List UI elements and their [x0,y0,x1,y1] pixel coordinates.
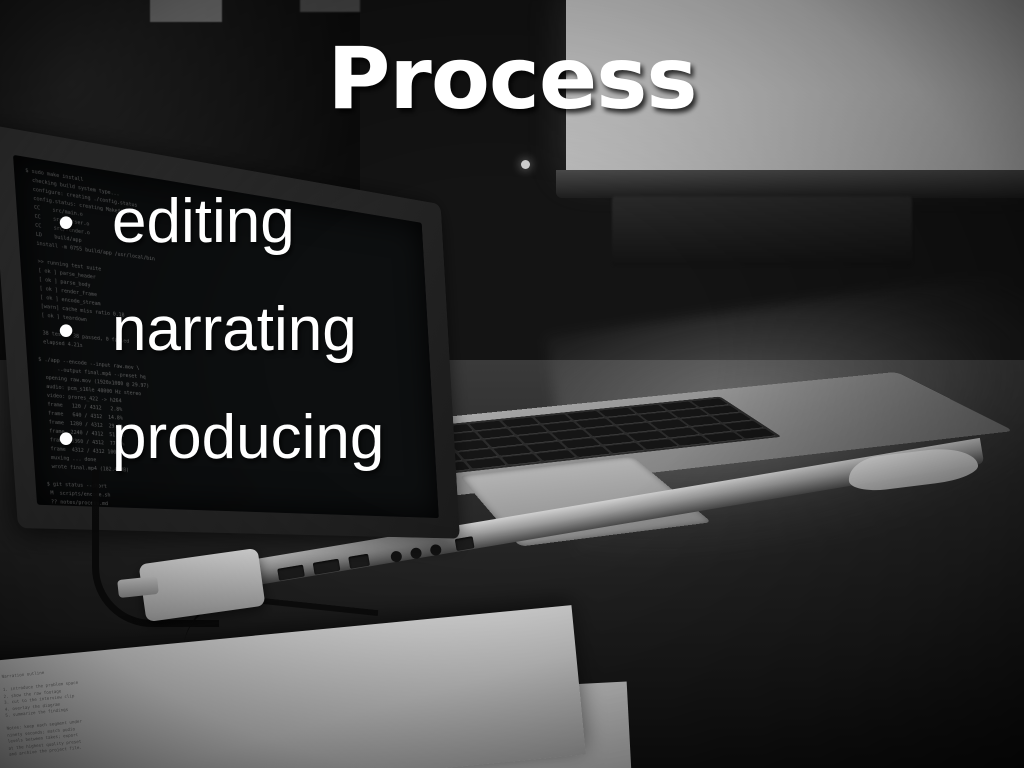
bullet-list: • editing • narrating • producing [58,168,698,492]
bullet-marker-icon: • [58,384,104,492]
background-paper-strip [150,0,222,22]
slide: $ sudo make install checking build syste… [0,0,1024,768]
list-item-label: producing [104,384,384,492]
bullet-marker-icon: • [58,168,104,276]
list-item-label: editing [104,168,295,276]
printed-paper-text: Narration outline 1. introduce the probl… [1,645,309,768]
bullet-marker-icon: • [58,276,104,384]
list-item-label: narrating [104,276,357,384]
list-item: • editing [58,168,698,276]
list-item: • narrating [58,276,698,384]
list-item: • producing [58,384,698,492]
page-title: Process [0,36,1024,122]
background-paper-strip-2 [300,0,360,12]
